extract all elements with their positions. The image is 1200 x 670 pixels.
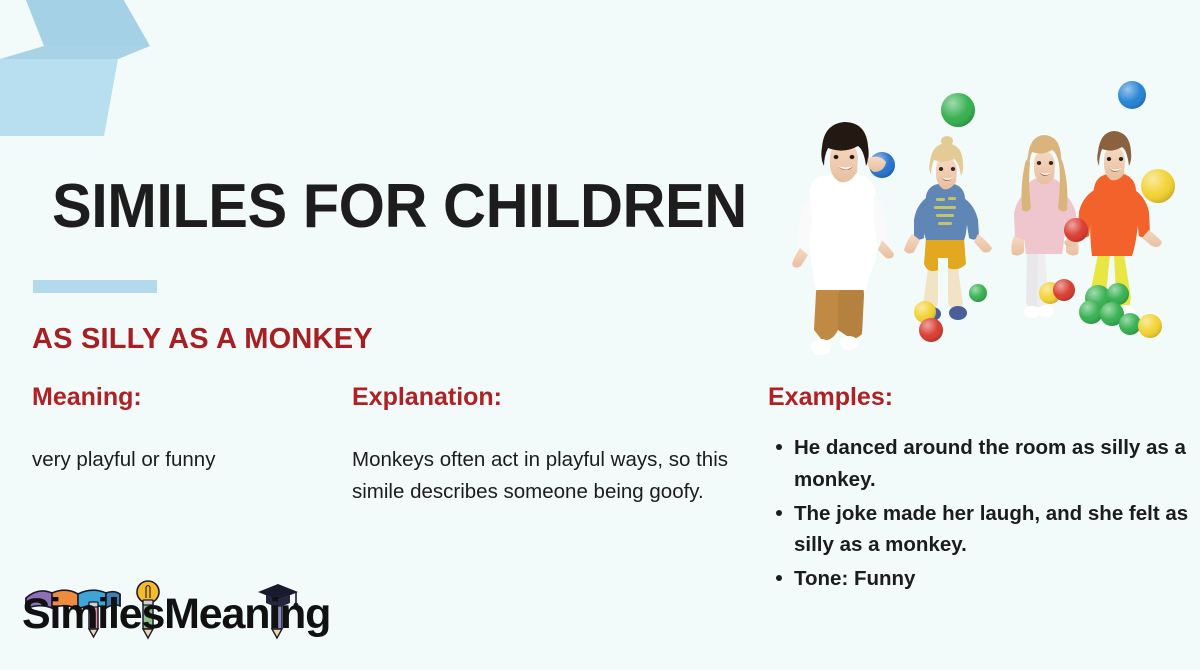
simile-heading: AS SILLY AS A MONKEY <box>32 323 373 356</box>
page-title: SIMILES FOR CHILDREN <box>52 176 747 238</box>
example-item: Tone: Funny <box>794 563 1200 595</box>
meaning-heading: Meaning: <box>32 383 142 412</box>
explanation-heading: Explanation: <box>352 383 502 412</box>
accent-bar <box>33 280 157 293</box>
ribbon-decoration <box>0 0 150 150</box>
examples-heading: Examples: <box>768 383 893 412</box>
explanation-body: Monkeys often act in playful ways, so th… <box>352 444 742 508</box>
logo-wordmark: SimilesMeaning <box>22 590 330 639</box>
meaning-body: very playful or funny <box>32 444 332 476</box>
examples-list: He danced around the room as silly as a … <box>768 432 1200 597</box>
site-logo[interactable]: SimilesMeaning <box>22 576 342 642</box>
children-playing-photo <box>786 62 1200 367</box>
slide-canvas: SIMILES FOR CHILDREN AS SILLY AS A MONKE… <box>0 0 1200 670</box>
example-item: He danced around the room as silly as a … <box>794 432 1200 496</box>
example-item: The joke made her laugh, and she felt as… <box>794 498 1200 562</box>
